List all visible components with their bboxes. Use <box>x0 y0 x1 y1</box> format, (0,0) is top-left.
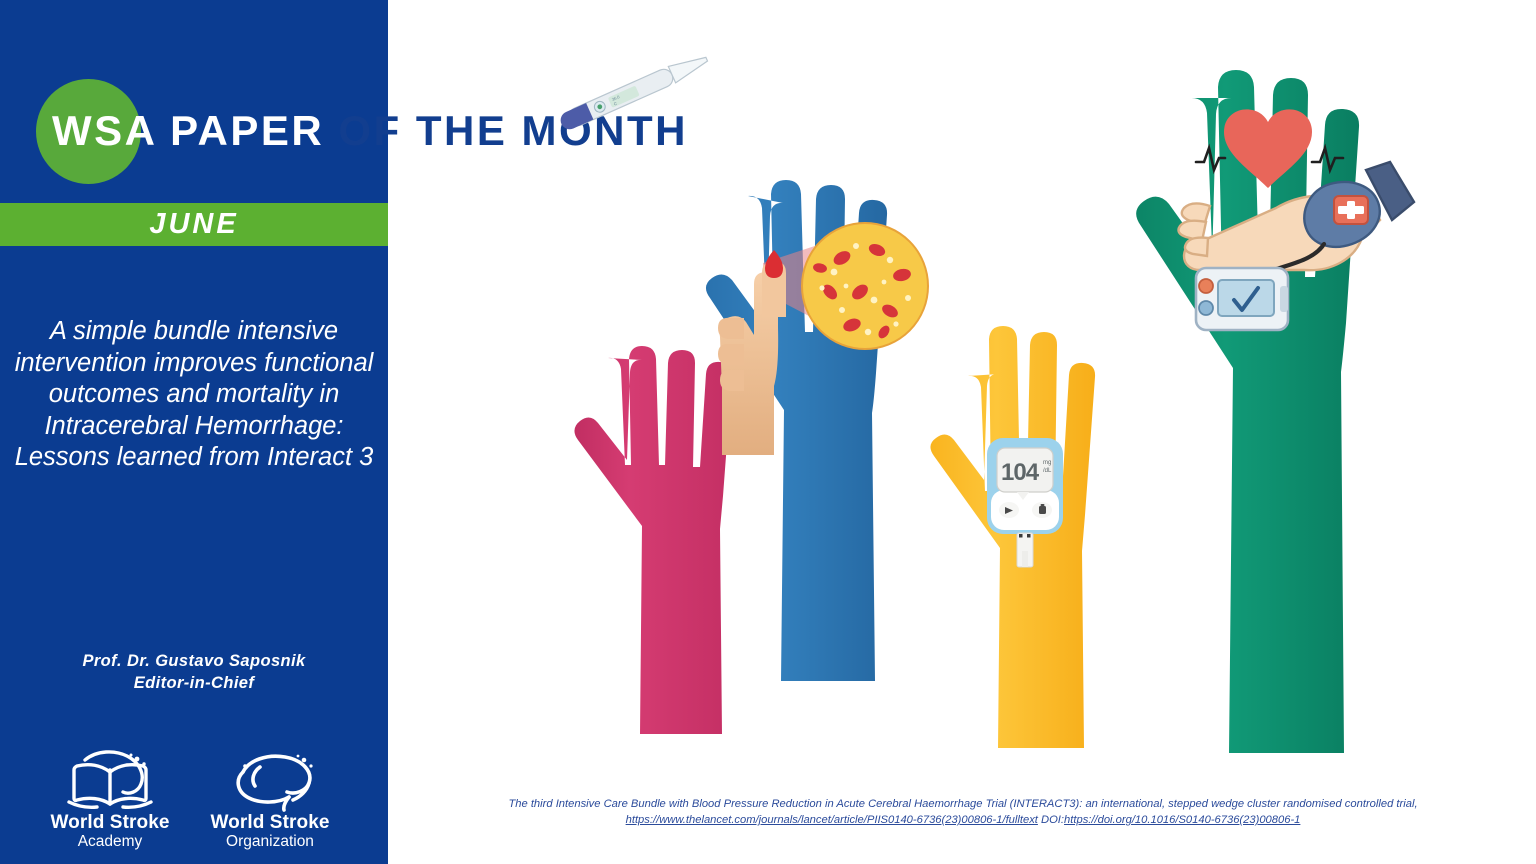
doi-label: DOI: <box>1038 814 1064 826</box>
green-hand <box>1136 70 1414 753</box>
blue-hand <box>706 180 928 681</box>
svg-text:104: 104 <box>1001 459 1040 486</box>
citation-text: The third Intensive Care Bundle with Blo… <box>508 798 1417 810</box>
doi-link[interactable]: https://doi.org/10.1016/S0140-6736(23)00… <box>1064 814 1300 826</box>
brain-swoosh-icon <box>190 750 350 812</box>
digital-thermometer-icon: 36.6C <box>558 51 711 132</box>
logo-line-1: World Stroke <box>190 812 350 833</box>
yellow-hand: 104 mg /dL <box>930 326 1095 748</box>
logo-group: World Stroke Academy <box>30 750 360 860</box>
slide-canvas: WSA PAPER OF THE MONTH JUNE A simple bun… <box>0 0 1536 864</box>
author-name: Prof. Dr. Gustavo Saposnik <box>8 650 380 672</box>
citation: The third Intensive Care Bundle with Blo… <box>392 796 1534 828</box>
logo-line-1: World Stroke <box>30 812 190 833</box>
logo-line-2: Organization <box>190 833 350 851</box>
author-block: Prof. Dr. Gustavo Saposnik Editor-in-Chi… <box>8 650 380 694</box>
svg-text:/dL: /dL <box>1043 468 1052 474</box>
world-stroke-academy-logo: World Stroke Academy <box>30 750 190 860</box>
logo-line-2: Academy <box>30 833 190 851</box>
pink-hand: 36.6C <box>558 51 732 734</box>
paper-title: A simple bundle intensive intervention i… <box>10 316 378 474</box>
author-role: Editor-in-Chief <box>8 672 380 694</box>
open-book-brain-icon <box>30 750 190 812</box>
month-label: JUNE <box>0 203 388 246</box>
title-wsa-paper: WSA PAPER <box>52 107 324 154</box>
world-stroke-organization-logo: World Stroke Organization <box>190 750 350 860</box>
lancet-article-link[interactable]: https://www.thelancet.com/journals/lance… <box>626 814 1038 826</box>
bp-monitor-icon <box>1196 268 1288 330</box>
svg-text:mg: mg <box>1043 460 1051 466</box>
hands-illustration: 36.6C <box>390 0 1536 800</box>
